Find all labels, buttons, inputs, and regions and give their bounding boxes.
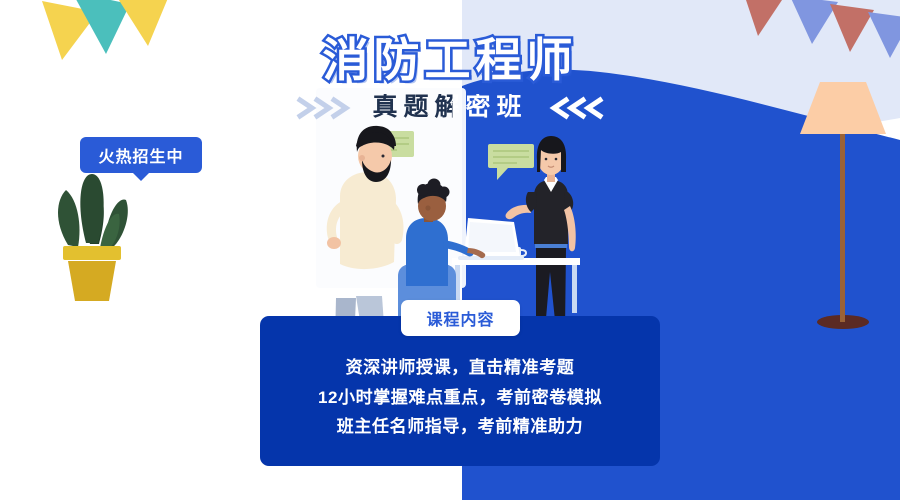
subtitle-row: 真题解密班 (0, 94, 900, 122)
page-subtitle: 真题解密班 (372, 94, 527, 122)
course-line-2: 12小时掌握难点重点，考前密卷模拟 (318, 388, 602, 408)
promo-banner: 消防工程师 真题解密班 火热招生中 (0, 0, 900, 500)
course-content-box: 资深讲师授课，直击精准考题 12小时掌握难点重点，考前密卷模拟 班主任名师指导，… (260, 316, 660, 466)
course-line-1: 资深讲师授课，直击精准考题 (346, 358, 575, 378)
status-badge-label: 火热招生中 (98, 143, 183, 167)
status-badge[interactable]: 火热招生中 (80, 137, 202, 173)
chevron-right-triple-icon (296, 95, 358, 121)
lamp-pole (840, 134, 845, 322)
course-content-label-text: 课程内容 (426, 306, 494, 330)
chevron-left-triple-icon (542, 95, 604, 121)
course-content-label: 课程内容 (401, 300, 520, 336)
course-line-3: 班主任名师指导，考前精准助力 (337, 417, 583, 437)
